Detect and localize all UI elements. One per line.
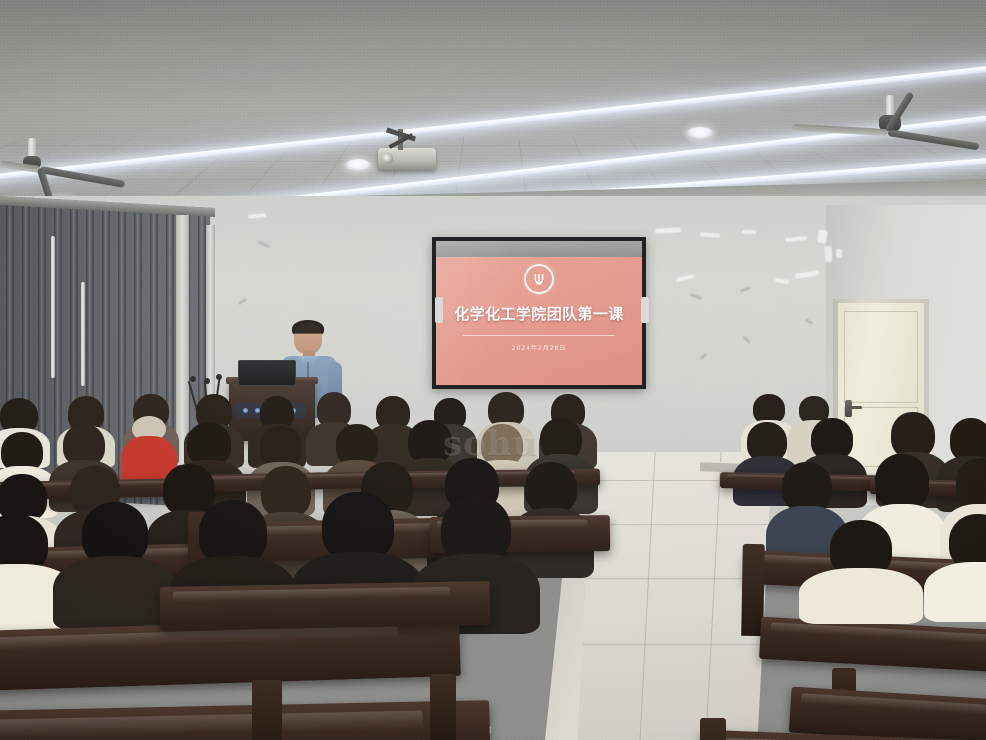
- wall-blemish: [817, 229, 828, 243]
- presentation-slide: 化学化工学院团队第一课 2024年2月28日: [436, 257, 642, 385]
- support-pole: [81, 282, 85, 386]
- audience-member: [60, 502, 170, 612]
- ceiling-projector: [378, 148, 436, 170]
- wall-blemish: [742, 230, 756, 234]
- support-pole: [51, 236, 55, 378]
- university-emblem-icon: [524, 264, 554, 294]
- screen-side-tab: [435, 297, 443, 323]
- slide-date: 2024年2月28日: [512, 343, 567, 352]
- projection-screen: 化学化工学院团队第一课 2024年2月28日: [432, 237, 646, 389]
- ceiling-fan: [800, 95, 980, 165]
- downlight-icon: [345, 159, 371, 171]
- laptop[interactable]: [238, 360, 296, 386]
- presenter-head: [294, 322, 322, 354]
- slide-title: 化学化工学院团队第一课: [454, 303, 623, 324]
- audience-member: [930, 514, 986, 600]
- audience-member: [806, 520, 916, 600]
- bench-backrest: [0, 700, 491, 740]
- screen-side-tab: [641, 297, 649, 323]
- slide-divider: [463, 335, 615, 336]
- bench-backrest: [160, 581, 491, 631]
- microphone-head-icon: [204, 378, 210, 384]
- lecture-hall-photo: 化学化工学院团队第一课 2024年2月28日: [0, 0, 986, 740]
- audience-area: [0, 388, 986, 740]
- microphone-head-icon: [190, 376, 196, 382]
- wall-blemish: [824, 246, 832, 262]
- wall-blemish: [836, 249, 842, 258]
- bench-backrest: [789, 687, 986, 740]
- downlight-icon: [687, 127, 713, 139]
- bench-backrest: [759, 617, 986, 674]
- bench-end-panel: [252, 680, 282, 740]
- screen-top-border: [436, 241, 642, 257]
- bench-end-panel: [700, 718, 726, 740]
- microphone-head-icon: [216, 374, 222, 380]
- bench-end-panel: [430, 674, 456, 740]
